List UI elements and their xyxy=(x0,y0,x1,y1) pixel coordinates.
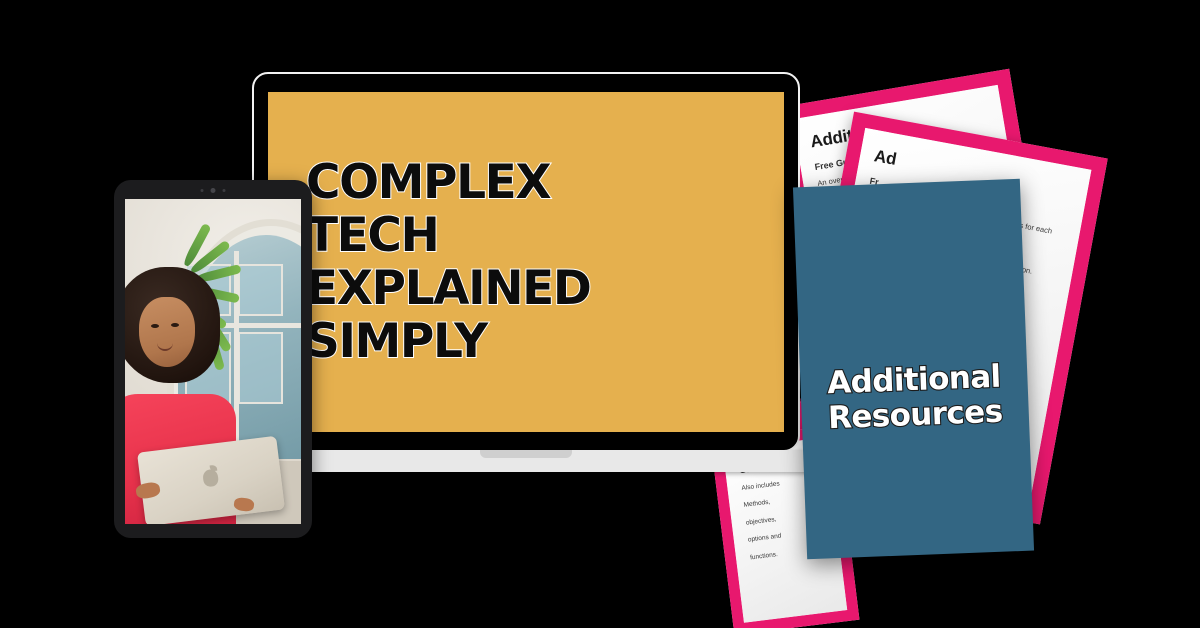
laptop-screen: COMPLEX TECH EXPLAINED SIMPLY xyxy=(268,92,784,432)
sensor-dot-icon xyxy=(223,189,226,192)
laptop-trackpad-notch xyxy=(480,450,572,458)
sensor-dot-icon xyxy=(201,189,204,192)
laptop-shell: COMPLEX TECH EXPLAINED SIMPLY xyxy=(252,72,800,452)
photo-laptop-logo-icon xyxy=(202,468,219,487)
front-camera-icon xyxy=(211,188,216,193)
headline-text: COMPLEX TECH EXPLAINED SIMPLY xyxy=(268,156,590,368)
laptop-base xyxy=(232,450,820,472)
additional-resources-card[interactable]: Additional Resources xyxy=(793,179,1034,559)
tablet-device xyxy=(114,180,312,538)
promo-graphic-canvas: Additional Free Guide An overview of the… xyxy=(0,0,1200,628)
tablet-photo xyxy=(125,199,301,524)
resource-card-title: Additional Resources xyxy=(816,360,1013,437)
tablet-camera-icon xyxy=(201,188,226,193)
laptop-device: COMPLEX TECH EXPLAINED SIMPLY xyxy=(252,72,800,452)
photo-person-face xyxy=(139,297,195,367)
